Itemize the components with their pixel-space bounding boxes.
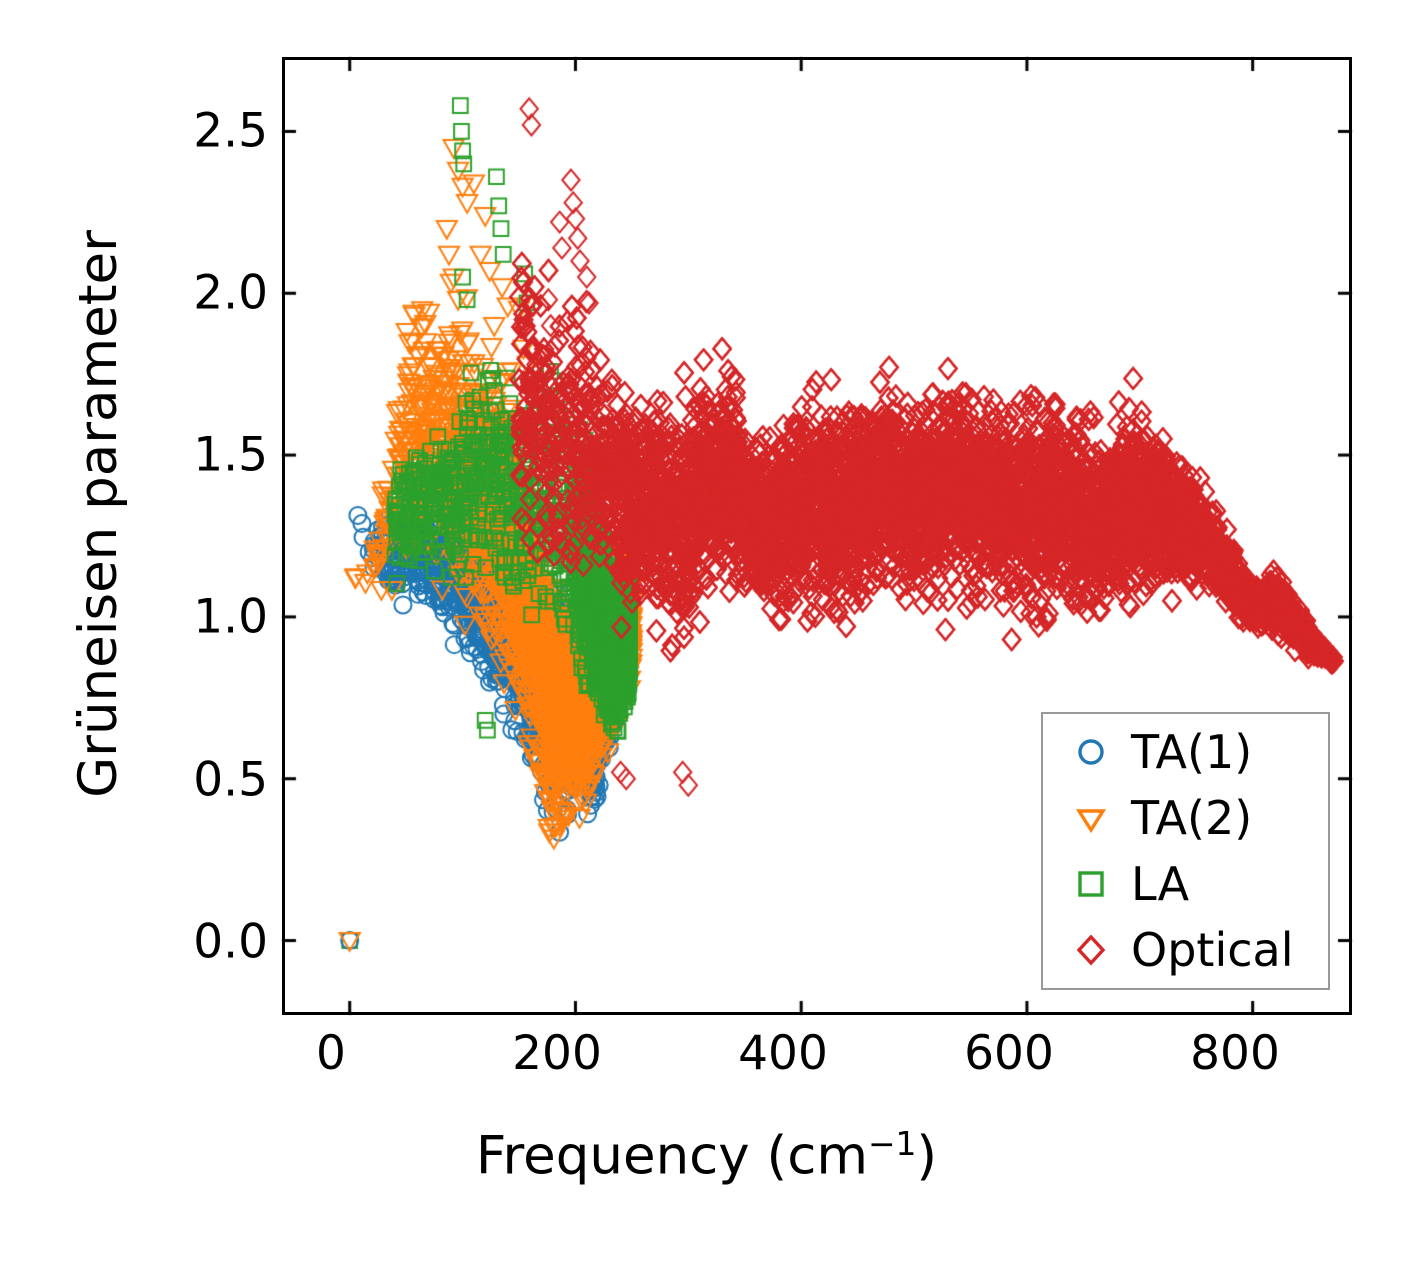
x-tick-label-600: 600 (964, 1030, 1054, 1077)
legend-entry-ta1[interactable]: TA(1) (1043, 719, 1328, 785)
y-tick-label-0-5: 0.5 (193, 757, 268, 804)
x-axis-label-exponent: −1 (868, 1124, 916, 1163)
legend-entry-optical[interactable]: Optical (1043, 917, 1328, 983)
legend-entry-la[interactable]: LA (1043, 851, 1328, 917)
y-tick-label-1-0: 1.0 (193, 594, 268, 641)
circle-marker-icon (1065, 732, 1117, 772)
y-axis-label: Grüneisen parameter (72, 230, 125, 798)
triangle-down-marker-icon (1065, 798, 1117, 838)
x-tick-label-400: 400 (738, 1030, 828, 1077)
legend-entry-ta2[interactable]: TA(2) (1043, 785, 1328, 851)
y-tick-label-0-0: 0.0 (193, 919, 268, 966)
legend-box: TA(1) TA(2) LA Optical (1041, 712, 1330, 990)
x-tick-label-0: 0 (316, 1030, 346, 1077)
x-tick-label-200: 200 (512, 1030, 602, 1077)
legend-label-optical: Optical (1131, 927, 1293, 973)
legend-label-ta1: TA(1) (1131, 729, 1252, 775)
y-axis-label-wrapper: Grüneisen parameter (68, 64, 128, 964)
y-tick-label-1-5: 1.5 (193, 432, 268, 479)
square-marker-icon (1065, 864, 1117, 904)
legend-label-ta2: TA(2) (1131, 795, 1252, 841)
y-tick-label-2-0: 2.0 (193, 270, 268, 317)
y-tick-label-2-5: 2.5 (193, 108, 268, 155)
diamond-marker-icon (1065, 930, 1117, 970)
figure-root: 0 200 400 600 800 0.0 0.5 1.0 1.5 2.0 2.… (0, 0, 1413, 1264)
x-axis-label-main: Frequency (cm (476, 1126, 868, 1187)
legend-label-la: LA (1131, 861, 1189, 907)
x-axis-label-close: ) (916, 1126, 937, 1187)
x-axis-label: Frequency (cm−1) (0, 1128, 1413, 1183)
x-tick-label-800: 800 (1190, 1030, 1280, 1077)
